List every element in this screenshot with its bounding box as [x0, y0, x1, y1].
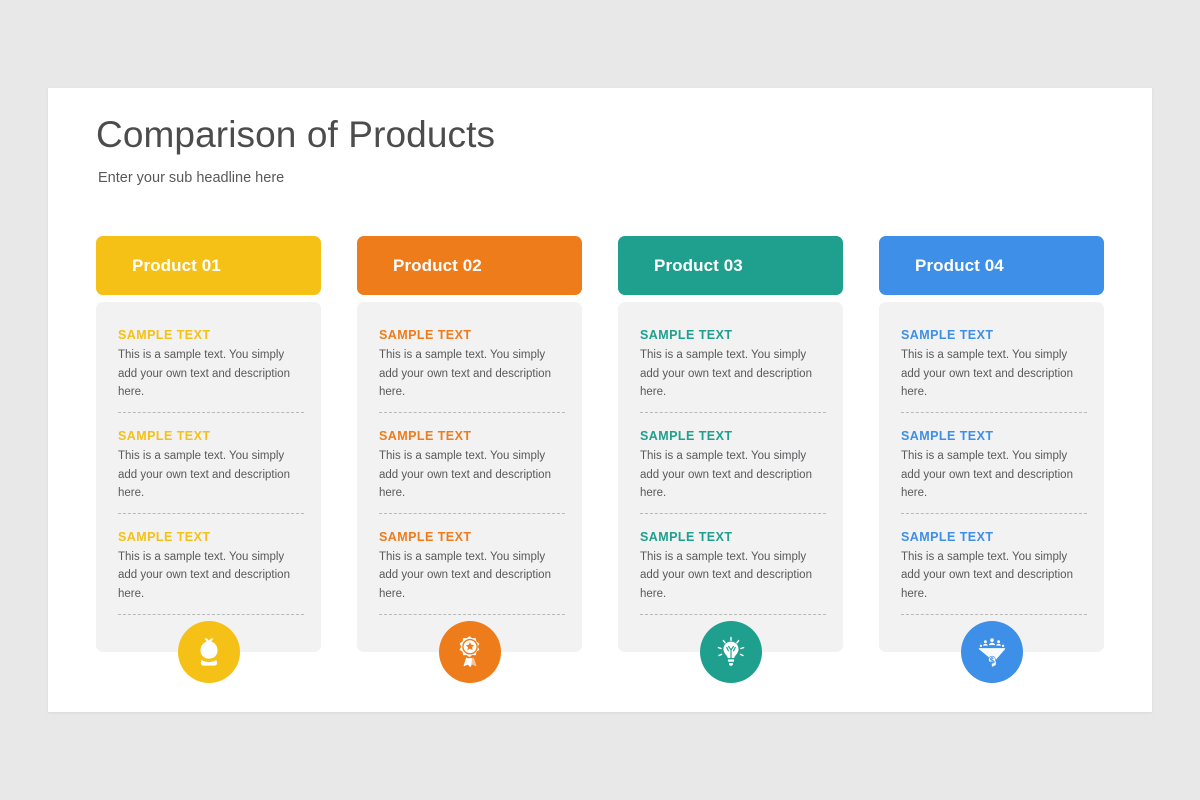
- product-card: Product 04SAMPLE TEXTThis is a sample te…: [879, 236, 1104, 652]
- feature-row-divider: [640, 412, 826, 413]
- award-ribbon-icon: [439, 621, 501, 683]
- product-card-title: Product 04: [915, 256, 1004, 276]
- feature-row-divider: [118, 412, 304, 413]
- feature-row-divider: [901, 513, 1087, 514]
- feature-row-title: SAMPLE TEXT: [640, 328, 826, 342]
- product-card-header[interactable]: Product 01: [96, 236, 321, 295]
- feature-row-description: This is a sample text. You simply add yo…: [901, 447, 1087, 503]
- feature-row-title: SAMPLE TEXT: [118, 328, 304, 342]
- feature-row-description: This is a sample text. You simply add yo…: [379, 346, 565, 402]
- product-card-header[interactable]: Product 02: [357, 236, 582, 295]
- feature-row-title: SAMPLE TEXT: [640, 429, 826, 443]
- feature-row-divider: [379, 513, 565, 514]
- product-comparison-columns: Product 01SAMPLE TEXTThis is a sample te…: [96, 236, 1104, 652]
- feature-row-description: This is a sample text. You simply add yo…: [118, 548, 304, 604]
- product-card-body: SAMPLE TEXTThis is a sample text. You si…: [879, 302, 1104, 652]
- page-title: Comparison of Products: [96, 114, 495, 157]
- feature-row-title: SAMPLE TEXT: [901, 530, 1087, 544]
- feature-row-title: SAMPLE TEXT: [379, 328, 565, 342]
- feature-row-title: SAMPLE TEXT: [118, 530, 304, 544]
- feature-row-description: This is a sample text. You simply add yo…: [379, 548, 565, 604]
- sales-funnel-icon: [961, 621, 1023, 683]
- feature-row-description: This is a sample text. You simply add yo…: [640, 548, 826, 604]
- lightbulb-icon: [700, 621, 762, 683]
- feature-row-title: SAMPLE TEXT: [901, 429, 1087, 443]
- feature-row-title: SAMPLE TEXT: [379, 530, 565, 544]
- feature-row-divider: [118, 513, 304, 514]
- feature-row-divider: [118, 614, 304, 615]
- feature-row-title: SAMPLE TEXT: [379, 429, 565, 443]
- product-card: Product 02SAMPLE TEXTThis is a sample te…: [357, 236, 582, 652]
- feature-row-title: SAMPLE TEXT: [118, 429, 304, 443]
- feature-row-description: This is a sample text. You simply add yo…: [118, 447, 304, 503]
- product-card-header[interactable]: Product 04: [879, 236, 1104, 295]
- product-card-title: Product 01: [132, 256, 221, 276]
- feature-row-description: This is a sample text. You simply add yo…: [640, 447, 826, 503]
- product-card: Product 03SAMPLE TEXTThis is a sample te…: [618, 236, 843, 652]
- slide-canvas: Comparison of Products Enter your sub he…: [48, 88, 1152, 712]
- product-card-title: Product 03: [654, 256, 743, 276]
- feature-row-description: This is a sample text. You simply add yo…: [901, 548, 1087, 604]
- feature-row-divider: [640, 614, 826, 615]
- feature-row-description: This is a sample text. You simply add yo…: [379, 447, 565, 503]
- feature-row-divider: [901, 614, 1087, 615]
- product-card-body: SAMPLE TEXTThis is a sample text. You si…: [618, 302, 843, 652]
- feature-row-description: This is a sample text. You simply add yo…: [901, 346, 1087, 402]
- slide-header: Comparison of Products Enter your sub he…: [96, 114, 495, 186]
- product-card-header[interactable]: Product 03: [618, 236, 843, 295]
- product-card: Product 01SAMPLE TEXTThis is a sample te…: [96, 236, 321, 652]
- page-subtitle: Enter your sub headline here: [98, 170, 495, 186]
- feature-row-description: This is a sample text. You simply add yo…: [640, 346, 826, 402]
- feature-row-divider: [379, 412, 565, 413]
- feature-row-title: SAMPLE TEXT: [901, 328, 1087, 342]
- product-card-body: SAMPLE TEXTThis is a sample text. You si…: [96, 302, 321, 652]
- product-card-body: SAMPLE TEXTThis is a sample text. You si…: [357, 302, 582, 652]
- money-bag-icon: [178, 621, 240, 683]
- feature-row-description: This is a sample text. You simply add yo…: [118, 346, 304, 402]
- feature-row-title: SAMPLE TEXT: [640, 530, 826, 544]
- feature-row-divider: [379, 614, 565, 615]
- feature-row-divider: [901, 412, 1087, 413]
- feature-row-divider: [640, 513, 826, 514]
- product-card-title: Product 02: [393, 256, 482, 276]
